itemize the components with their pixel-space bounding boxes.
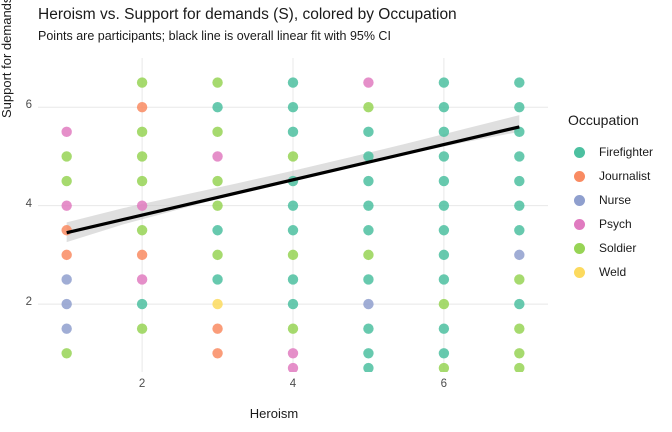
data-point[interactable] bbox=[439, 127, 449, 137]
chart-subtitle: Points are participants; black line is o… bbox=[38, 29, 391, 43]
data-point[interactable] bbox=[61, 323, 71, 333]
data-point[interactable] bbox=[137, 151, 147, 161]
data-point[interactable] bbox=[288, 225, 298, 235]
data-point[interactable] bbox=[514, 151, 524, 161]
data-point[interactable] bbox=[514, 363, 524, 372]
legend-item-label: Soldier bbox=[599, 241, 636, 255]
data-point[interactable] bbox=[288, 250, 298, 260]
legend-item-label: Journalist bbox=[599, 169, 650, 183]
data-point[interactable] bbox=[363, 363, 373, 372]
chart-title: Heroism vs. Support for demands (S), col… bbox=[38, 6, 457, 24]
data-point[interactable] bbox=[137, 299, 147, 309]
legend-swatch-icon bbox=[574, 171, 585, 182]
data-point[interactable] bbox=[212, 274, 222, 284]
data-point[interactable] bbox=[514, 200, 524, 210]
data-point[interactable] bbox=[363, 299, 373, 309]
data-point[interactable] bbox=[439, 151, 449, 161]
legend-item-journalist[interactable]: Journalist bbox=[568, 164, 672, 188]
data-point[interactable] bbox=[212, 200, 222, 210]
data-point[interactable] bbox=[61, 151, 71, 161]
data-point[interactable] bbox=[137, 323, 147, 333]
legend-item-label: Firefighter bbox=[599, 145, 653, 159]
data-point[interactable] bbox=[363, 274, 373, 284]
legend-item-weld[interactable]: Weld bbox=[568, 260, 672, 284]
data-point[interactable] bbox=[137, 225, 147, 235]
legend-swatch-icon bbox=[574, 219, 585, 230]
data-point[interactable] bbox=[363, 102, 373, 112]
chart-root: Heroism vs. Support for demands (S), col… bbox=[0, 0, 672, 432]
data-point[interactable] bbox=[439, 274, 449, 284]
data-point[interactable] bbox=[514, 299, 524, 309]
data-point[interactable] bbox=[439, 77, 449, 87]
data-point[interactable] bbox=[288, 200, 298, 210]
data-point[interactable] bbox=[439, 299, 449, 309]
data-point[interactable] bbox=[363, 323, 373, 333]
data-point[interactable] bbox=[288, 151, 298, 161]
data-point[interactable] bbox=[288, 77, 298, 87]
data-point[interactable] bbox=[514, 274, 524, 284]
legend-swatch-icon bbox=[574, 195, 585, 206]
data-point[interactable] bbox=[439, 200, 449, 210]
data-point[interactable] bbox=[363, 225, 373, 235]
y-axis-tick-label: 6 bbox=[10, 99, 32, 111]
data-point[interactable] bbox=[439, 102, 449, 112]
data-point[interactable] bbox=[212, 102, 222, 112]
data-point[interactable] bbox=[61, 176, 71, 186]
legend-swatch-icon bbox=[574, 147, 585, 158]
data-point[interactable] bbox=[212, 225, 222, 235]
data-point[interactable] bbox=[288, 127, 298, 137]
data-point[interactable] bbox=[137, 176, 147, 186]
plot-panel bbox=[38, 58, 548, 372]
legend-swatch-icon bbox=[574, 267, 585, 278]
data-point[interactable] bbox=[137, 274, 147, 284]
legend-item-label: Weld bbox=[599, 265, 626, 279]
data-point[interactable] bbox=[514, 77, 524, 87]
data-point[interactable] bbox=[212, 299, 222, 309]
data-point[interactable] bbox=[61, 127, 71, 137]
legend-item-psych[interactable]: Psych bbox=[568, 212, 672, 236]
legend-item-label: Nurse bbox=[599, 193, 631, 207]
data-point[interactable] bbox=[137, 77, 147, 87]
data-point[interactable] bbox=[61, 348, 71, 358]
legend-title: Occupation bbox=[568, 112, 672, 128]
legend-swatch-icon bbox=[574, 243, 585, 254]
data-point[interactable] bbox=[363, 77, 373, 87]
data-point[interactable] bbox=[61, 274, 71, 284]
data-point[interactable] bbox=[288, 348, 298, 358]
data-point[interactable] bbox=[363, 200, 373, 210]
data-point[interactable] bbox=[137, 102, 147, 112]
data-point[interactable] bbox=[514, 102, 524, 112]
legend: Occupation FirefighterJournalistNursePsy… bbox=[568, 112, 672, 284]
data-point[interactable] bbox=[212, 151, 222, 161]
data-point[interactable] bbox=[212, 250, 222, 260]
data-point[interactable] bbox=[514, 348, 524, 358]
data-point[interactable] bbox=[61, 250, 71, 260]
data-point[interactable] bbox=[137, 200, 147, 210]
data-point[interactable] bbox=[288, 363, 298, 372]
data-point[interactable] bbox=[288, 299, 298, 309]
legend-item-firefighter[interactable]: Firefighter bbox=[568, 140, 672, 164]
scatter-plot-svg bbox=[38, 58, 548, 372]
data-point[interactable] bbox=[212, 348, 222, 358]
data-point[interactable] bbox=[61, 200, 71, 210]
data-point[interactable] bbox=[363, 250, 373, 260]
data-point[interactable] bbox=[439, 225, 449, 235]
data-point[interactable] bbox=[514, 250, 524, 260]
legend-item-label: Psych bbox=[599, 217, 632, 231]
data-point[interactable] bbox=[212, 176, 222, 186]
x-axis-tick-label: 2 bbox=[130, 378, 154, 390]
data-point[interactable] bbox=[137, 127, 147, 137]
data-point[interactable] bbox=[439, 250, 449, 260]
data-point[interactable] bbox=[363, 348, 373, 358]
data-point[interactable] bbox=[439, 323, 449, 333]
data-point[interactable] bbox=[439, 176, 449, 186]
legend-item-list: FirefighterJournalistNursePsychSoldierWe… bbox=[568, 140, 672, 284]
data-point[interactable] bbox=[137, 250, 147, 260]
data-point[interactable] bbox=[439, 363, 449, 372]
data-point[interactable] bbox=[288, 102, 298, 112]
data-point[interactable] bbox=[288, 274, 298, 284]
data-point[interactable] bbox=[514, 176, 524, 186]
data-point[interactable] bbox=[288, 323, 298, 333]
legend-item-nurse[interactable]: Nurse bbox=[568, 188, 672, 212]
x-axis-tick-label: 6 bbox=[432, 378, 456, 390]
legend-item-soldier[interactable]: Soldier bbox=[568, 236, 672, 260]
x-axis-label: Heroism bbox=[0, 406, 548, 421]
y-axis-tick-label: 4 bbox=[10, 198, 32, 210]
x-axis-tick-label: 4 bbox=[281, 378, 305, 390]
data-point[interactable] bbox=[514, 225, 524, 235]
data-point[interactable] bbox=[212, 323, 222, 333]
data-point[interactable] bbox=[439, 348, 449, 358]
data-point[interactable] bbox=[212, 77, 222, 87]
data-point[interactable] bbox=[363, 127, 373, 137]
data-point[interactable] bbox=[61, 299, 71, 309]
data-point[interactable] bbox=[363, 176, 373, 186]
y-axis-tick-label: 2 bbox=[10, 296, 32, 308]
data-point[interactable] bbox=[514, 323, 524, 333]
data-point[interactable] bbox=[212, 127, 222, 137]
